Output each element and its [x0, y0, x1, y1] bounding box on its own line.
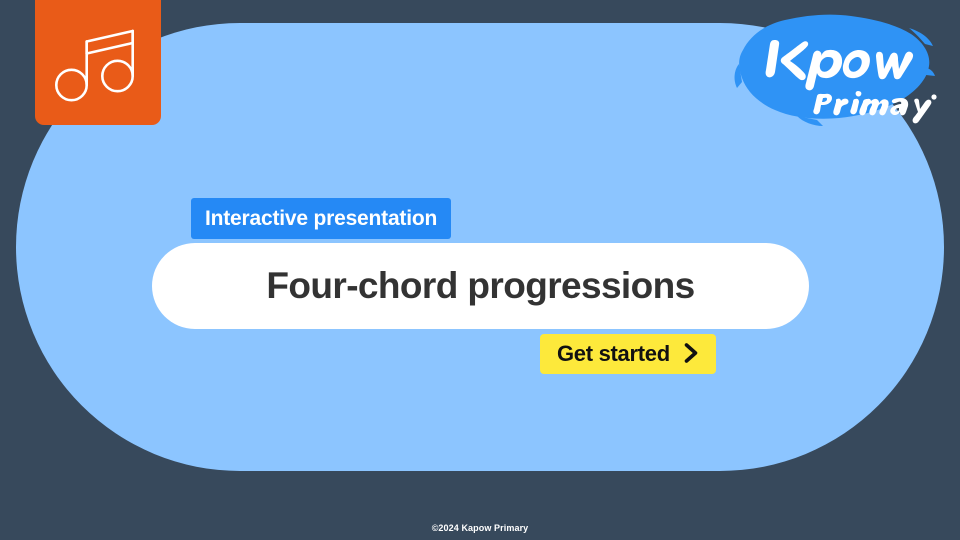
- title-pill: Four-chord progressions: [152, 243, 809, 329]
- subject-tile-music: [35, 0, 161, 125]
- get-started-button[interactable]: Get started: [540, 334, 716, 374]
- chevron-right-icon: [683, 341, 699, 368]
- status-badge-interactive-presentation: Interactive presentation: [191, 198, 451, 239]
- kapow-primary-logo: [733, 4, 938, 132]
- page-title: Four-chord progressions: [266, 265, 694, 307]
- footer-copyright: ©2024 Kapow Primary: [0, 523, 960, 533]
- music-note-icon: [55, 23, 141, 103]
- presentation-slide: Interactive presentation Four-chord prog…: [0, 0, 960, 540]
- get-started-label: Get started: [557, 341, 670, 367]
